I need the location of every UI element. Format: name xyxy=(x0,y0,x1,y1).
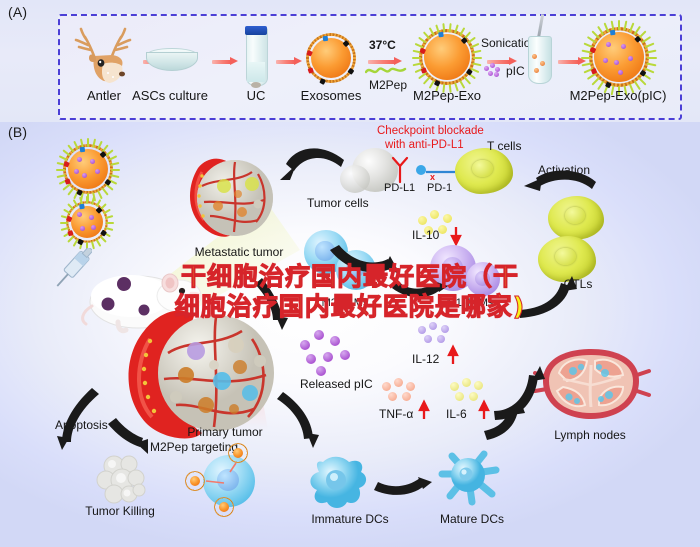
label-immature-dcs: Immature DCs xyxy=(311,512,388,526)
label-il-10: IL-10 xyxy=(412,228,439,242)
label-checkpoint-line2: with anti-PD-L1 xyxy=(385,139,464,151)
label-mature-dcs: Mature DCs xyxy=(440,512,504,526)
process-arrow-3 xyxy=(276,57,302,66)
m2pep-exosome-icon xyxy=(418,28,476,86)
label-tnf-alpha: TNF-α xyxy=(379,407,413,421)
label-released-pic: Released pIC xyxy=(300,377,373,391)
il-12-cytokine-dots xyxy=(418,322,458,348)
label-m2-tams: M2-TAMs xyxy=(322,297,369,309)
centrifuge-tube-icon xyxy=(246,28,266,90)
m2-tam-cell-icon-2 xyxy=(336,250,376,290)
label-metastatic-tumor: Metastatic tumor xyxy=(195,245,284,259)
label-t-cells: T cells xyxy=(487,139,521,153)
label-pd-1: PD-1 xyxy=(427,182,452,194)
panel-a-label-temperature: 37°C xyxy=(369,38,396,52)
primary-tumor-icon xyxy=(120,305,310,445)
targeting-nanoparticle-icon-1 xyxy=(227,442,249,464)
label-apoptosis: Apoptosis xyxy=(55,418,108,432)
targeting-nanoparticle-icon-2 xyxy=(184,470,206,492)
ctl-cell-icon-2 xyxy=(538,236,596,282)
label-pd-l1: PD-L1 xyxy=(384,182,415,194)
apoptotic-cell-icon xyxy=(92,450,152,508)
il-6-cytokine-dots xyxy=(450,378,492,404)
exosome-icon xyxy=(305,32,357,84)
panel-b-tag: (B) xyxy=(8,124,27,140)
label-il-6: IL-6 xyxy=(446,407,467,421)
panel-a-label-exosomes: Exosomes xyxy=(301,88,362,103)
panel-a: (A) Antler xyxy=(0,0,700,122)
panel-a-label-m2pepexopic: M2Pep-Exo(pIC) xyxy=(570,88,667,103)
label-m2pep-targeting: M2Pep targeting xyxy=(150,440,238,454)
m2pep-exosome-pic-icon xyxy=(588,26,650,88)
label-activation: Activation xyxy=(538,163,590,177)
petri-dish-icon xyxy=(146,48,196,70)
deer-icon xyxy=(72,26,136,88)
ctl-cell-icon-1 xyxy=(548,196,604,240)
m1-tam-cell-icon-2 xyxy=(466,262,500,296)
panel-a-label-pic: pIC xyxy=(506,64,525,78)
tumor-cell-icon-2 xyxy=(340,165,370,193)
process-arrow-2 xyxy=(212,57,238,66)
panel-a-label-asc: ASCs culture xyxy=(132,88,208,103)
metastatic-tumor-icon xyxy=(180,150,300,250)
targeting-nanoparticle-icon-3 xyxy=(213,496,235,518)
label-m1-tams: M1-TAMs xyxy=(447,297,494,309)
nanoparticle-icon-2 xyxy=(65,200,109,244)
label-tumor-killing: Tumor Killing xyxy=(85,504,155,518)
panel-a-label-antler: Antler xyxy=(87,88,121,103)
label-lymph-nodes: Lymph nodes xyxy=(554,428,626,442)
lymph-node-icon xyxy=(533,345,651,427)
label-il-12: IL-12 xyxy=(412,352,439,366)
label-checkpoint-line1: Checkpoint blockade xyxy=(377,125,484,137)
panel-a-tag: (A) xyxy=(8,4,27,20)
panel-a-label-m2pepexo: M2Pep-Exo xyxy=(413,88,481,103)
label-ctls: CTLs xyxy=(564,277,593,291)
immature-dc-icon xyxy=(305,452,373,514)
label-tumor-cells: Tumor cells xyxy=(307,196,369,210)
figure-root: (A) Antler xyxy=(0,0,700,547)
label-primary-tumor: Primary tumor xyxy=(187,425,262,439)
panel-a-label-m2pep: M2Pep xyxy=(369,78,407,92)
tnf-alpha-cytokine-dots xyxy=(382,378,424,404)
panel-a-label-uc: UC xyxy=(247,88,266,103)
mature-dc-icon xyxy=(432,444,508,514)
sonication-tube-icon xyxy=(528,30,550,82)
nanoparticle-icon-1 xyxy=(62,143,114,195)
pic-cluster-icon xyxy=(484,63,502,77)
t-cell-icon xyxy=(455,148,513,194)
